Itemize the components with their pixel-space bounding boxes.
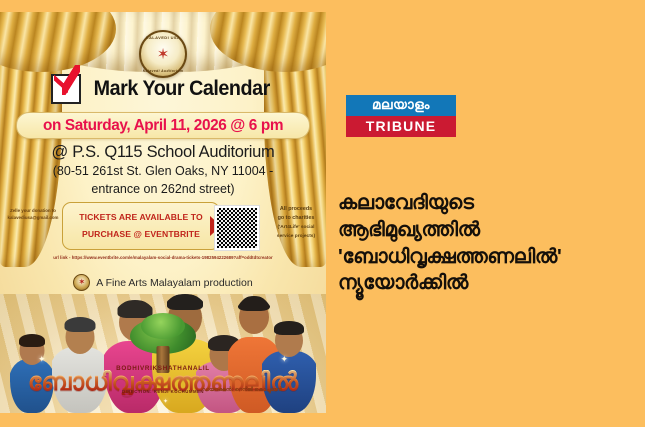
proceeds-line-4: service projects) (277, 234, 315, 239)
production-credit-text: A Fine Arts Malayalam production (96, 277, 252, 289)
kalavedi-usa-emblem-icon: KALAVEDI USA ✶ Kalavedi Auditorium (139, 30, 187, 78)
tickets-line-1: TICKETS ARE AVAILABLE TO (79, 212, 203, 222)
malayalam-tribune-logo[interactable]: മലയാളം TRIBUNE (346, 95, 456, 137)
venue-address1: (80-51 261st St. Glen Oaks, NY 11004 - (10, 164, 316, 180)
sparkle-icon-left: ✦ (38, 354, 46, 365)
event-date-bar: on Saturday, April 11, 2026 @ 6 pm (16, 112, 310, 139)
tickets-text: TICKETS ARE AVAILABLE TO PURCHASE @ EVEN… (79, 209, 203, 243)
emblem-bottom-text: Kalavedi Auditorium (141, 69, 185, 73)
mark-your-calendar-row: Mark Your Calendar (0, 74, 326, 104)
headline-line-3: 'ബോധിവൃക്ഷത്തണലിൽ' (338, 244, 643, 271)
venue-block: @ P.S. Q115 School Auditorium (80-51 261… (10, 143, 316, 198)
tickets-line-2: PURCHASE @ EVENTBRITE (82, 229, 200, 239)
headline-line-2: ആഭിമുഖ്യത്തിൽ (338, 217, 643, 244)
sparkle-icon-center: ✦ (163, 398, 168, 405)
ticket-band: Zelle your donation to kalavediusa@gmail… (0, 202, 326, 250)
venue-name: @ P.S. Q115 School Auditorium (10, 143, 316, 162)
headline-line-4: ന്യൂയോർക്കിൽ (338, 270, 643, 297)
event-date-text: on Saturday, April 11, 2026 @ 6 pm (43, 117, 283, 135)
proceeds-line-3: ('Art4Life' social (278, 225, 315, 230)
production-credit-row: ✶ A Fine Arts Malayalam production (0, 274, 326, 291)
mark-your-calendar-title: Mark Your Calendar (93, 77, 269, 101)
zelle-donation-note: Zelle your donation to kalavediusa@gmail… (4, 208, 62, 221)
venue-address2: entrance on 262nd street) (10, 182, 316, 198)
article-headline: കലാവേദിയുടെ ആഭിമുഖ്യത്തിൽ 'ബോധിവൃക്ഷത്തണ… (338, 190, 643, 297)
eventbrite-url-line[interactable]: url link - https://www.eventbrite.com/e/… (0, 255, 326, 260)
proceeds-line-1: All proceeds (280, 206, 312, 212)
qr-code-icon[interactable] (214, 205, 260, 251)
direction-credit-malayalam: ഡയറക്ഷൻ: റെൻജി കൊച്ചുമ്മൻ (202, 387, 282, 394)
event-poster: KALAVEDI USA ✶ Kalavedi Auditorium Mark … (0, 12, 326, 413)
headline-line-1: കലാവേദിയുടെ (338, 190, 643, 217)
emblem-top-text: KALAVEDI USA (141, 35, 185, 40)
sparkle-icon-right: ✦ (280, 354, 288, 365)
checked-checkbox-icon (51, 74, 81, 104)
proceeds-note: All proceeds go to charities ('Art4Life'… (266, 205, 326, 241)
proceeds-line-2: go to charities (278, 215, 315, 221)
emblem-star-icon: ✶ (157, 47, 170, 62)
tickets-available-box[interactable]: TICKETS ARE AVAILABLE TO PURCHASE @ EVEN… (62, 202, 220, 250)
logo-malayalam-text: മലയാളം (346, 95, 456, 116)
article-panel: മലയാളം TRIBUNE കലാവേദിയുടെ ആഭിമുഖ്യത്തിൽ… (330, 0, 645, 427)
production-emblem-icon: ✶ (73, 274, 90, 291)
logo-tribune-text: TRIBUNE (346, 116, 456, 137)
